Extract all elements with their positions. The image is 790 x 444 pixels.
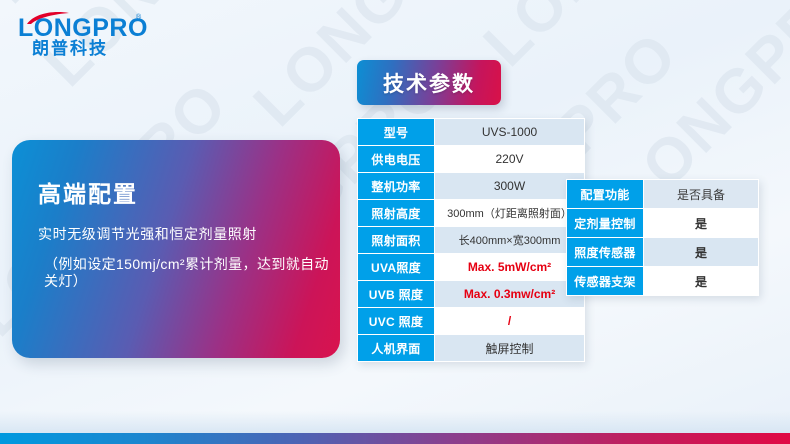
watermark-text: LONGPRO — [470, 0, 752, 80]
slide-canvas: LONGPROLONGPROLONGPROLONGPROLONGPROLONGP… — [0, 0, 790, 444]
features-row-value: 是 — [644, 209, 759, 238]
features-header-row: 配置功能是否具备 — [567, 180, 759, 209]
table-row: UVC 照度/ — [358, 308, 585, 335]
params-row-value: 长400mm×宽300mm — [435, 227, 585, 254]
logo-registered-mark: ® — [136, 14, 141, 21]
table-row: 照射面积长400mm×宽300mm — [358, 227, 585, 254]
params-row-key: 照射面积 — [358, 227, 435, 254]
params-row-value: UVS-1000 — [435, 119, 585, 146]
table-row: 整机功率300W — [358, 173, 585, 200]
features-row-key: 定剂量控制 — [567, 209, 644, 238]
params-row-value: Max. 5mW/cm² — [435, 254, 585, 281]
highlight-card-line2: （例如设定150mj/cm²累计剂量，达到就自动关灯） — [44, 256, 340, 290]
table-row: UVB 照度Max. 0.3mw/cm² — [358, 281, 585, 308]
features-table: 配置功能是否具备定剂量控制是照度传感器是传感器支架是 — [566, 179, 759, 296]
features-header-value: 是否具备 — [644, 180, 759, 209]
params-row-key: UVC 照度 — [358, 308, 435, 335]
company-logo: LONGPRO ® 朗普科技 — [16, 8, 156, 58]
params-row-key: 照射高度 — [358, 200, 435, 227]
table-row: 照度传感器是 — [567, 238, 759, 267]
features-header-key: 配置功能 — [567, 180, 644, 209]
bottom-gradient-bar — [0, 433, 790, 444]
highlight-card: 高端配置 实时无级调节光强和恒定剂量照射 （例如设定150mj/cm²累计剂量，… — [12, 140, 340, 358]
params-row-key: 整机功率 — [358, 173, 435, 200]
highlight-card-line1: 实时无级调节光强和恒定剂量照射 — [38, 226, 257, 243]
section-banner-title: 技术参数 — [357, 60, 501, 105]
params-row-key: 型号 — [358, 119, 435, 146]
params-table-body: 型号UVS-1000供电电压220V整机功率300W照射高度300mm（灯距离照… — [358, 119, 585, 362]
params-row-value: Max. 0.3mw/cm² — [435, 281, 585, 308]
params-row-key: 供电电压 — [358, 146, 435, 173]
table-row: 人机界面触屏控制 — [358, 335, 585, 362]
features-table-body: 配置功能是否具备定剂量控制是照度传感器是传感器支架是 — [567, 180, 759, 296]
params-row-key: UVA照度 — [358, 254, 435, 281]
section-banner: 技术参数 — [357, 60, 501, 105]
params-row-value: / — [435, 308, 585, 335]
table-row: 型号UVS-1000 — [358, 119, 585, 146]
table-row: UVA照度Max. 5mW/cm² — [358, 254, 585, 281]
params-row-value: 300mm（灯距离照射面） — [435, 200, 585, 227]
params-row-value: 220V — [435, 146, 585, 173]
features-row-value: 是 — [644, 267, 759, 296]
highlight-card-title: 高端配置 — [38, 183, 138, 206]
features-row-value: 是 — [644, 238, 759, 267]
table-row: 定剂量控制是 — [567, 209, 759, 238]
features-row-key: 传感器支架 — [567, 267, 644, 296]
params-row-key: 人机界面 — [358, 335, 435, 362]
params-row-value: 300W — [435, 173, 585, 200]
params-row-key: UVB 照度 — [358, 281, 435, 308]
table-row: 供电电压220V — [358, 146, 585, 173]
params-row-value: 触屏控制 — [435, 335, 585, 362]
table-row: 传感器支架是 — [567, 267, 759, 296]
features-row-key: 照度传感器 — [567, 238, 644, 267]
logo-wordmark: LONGPRO — [18, 16, 148, 41]
params-table: 型号UVS-1000供电电压220V整机功率300W照射高度300mm（灯距离照… — [357, 118, 585, 362]
table-row: 照射高度300mm（灯距离照射面） — [358, 200, 585, 227]
bottom-shade — [0, 411, 790, 433]
logo-chinese-name: 朗普科技 — [32, 40, 108, 57]
